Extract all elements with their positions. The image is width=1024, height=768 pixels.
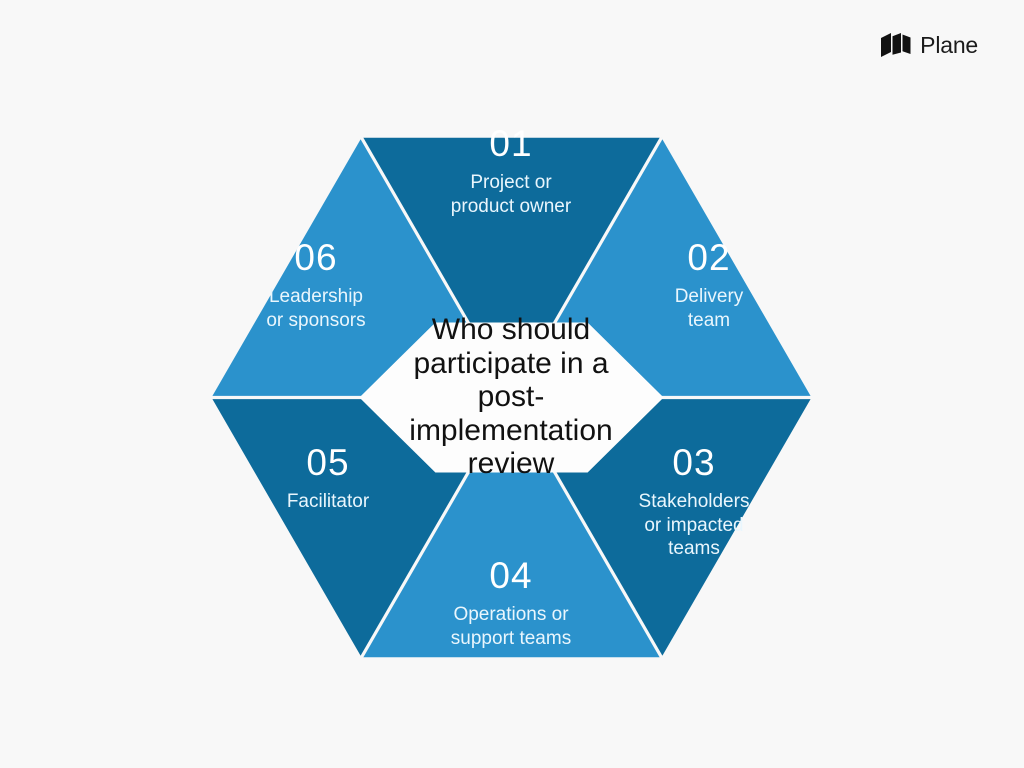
wheel-graphic — [211, 97, 812, 698]
brand-logo: Plane — [881, 33, 978, 57]
brand-name: Plane — [920, 34, 978, 57]
participants-wheel-diagram: 01 Project or product owner 02 Delivery … — [211, 97, 812, 698]
plane-logo-icon — [881, 33, 911, 57]
